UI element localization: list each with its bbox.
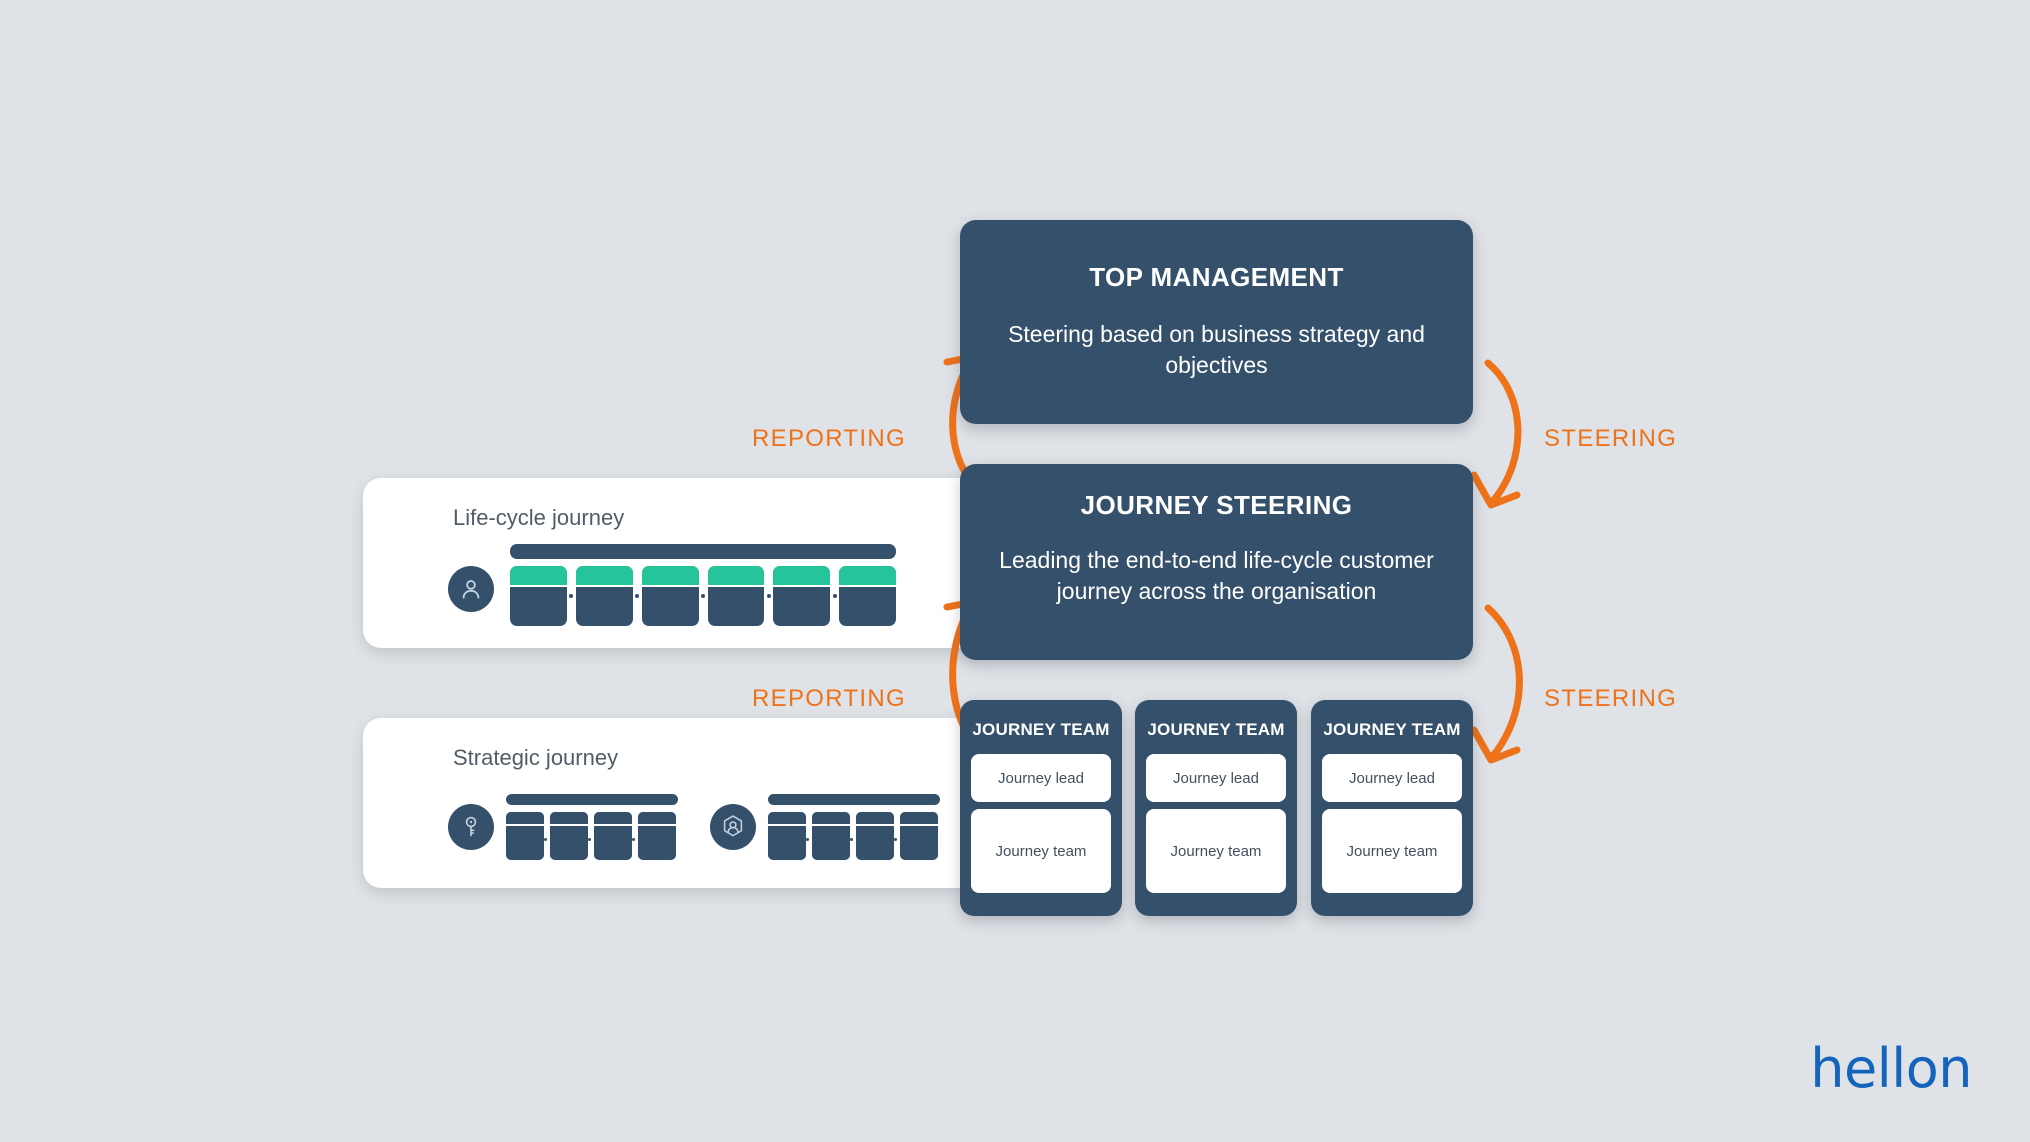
stage-accent	[576, 566, 633, 587]
diagram-canvas: Life-cycle journey	[0, 0, 2030, 1142]
lifecycle-stage	[773, 566, 830, 626]
hellon-logo: hellon	[1810, 1037, 1972, 1100]
stage-separator-dot	[699, 566, 708, 626]
strategic-journey-graphic	[448, 784, 978, 866]
journey-steering-box: JOURNEY STEERING Leading the end-to-end …	[960, 464, 1473, 660]
journey-team-title: JOURNEY TEAM	[1146, 700, 1286, 754]
journey-team-title: JOURNEY TEAM	[1322, 700, 1462, 754]
journey-team-slot: Journey team	[1146, 809, 1286, 893]
stage-accent	[642, 566, 699, 587]
journey-lead-slot: Journey lead	[971, 754, 1111, 802]
strategic-track-bar	[506, 794, 678, 805]
lifecycle-stage-list	[510, 566, 896, 626]
stage-accent	[550, 812, 588, 826]
journey-lead-slot: Journey lead	[1146, 754, 1286, 802]
strategic-panel-title: Strategic journey	[453, 745, 618, 771]
strategic-stage	[550, 812, 588, 860]
journey-team-slot: Journey team	[1322, 809, 1462, 893]
journey-steering-description: Leading the end-to-end life-cycle custom…	[960, 545, 1473, 606]
strategic-stage	[768, 812, 806, 860]
stage-accent	[594, 812, 632, 826]
stage-separator-dot	[764, 566, 773, 626]
flow-label-reporting-bottom: REPORTING	[752, 685, 906, 713]
stage-separator-dot	[830, 566, 839, 626]
top-management-box: TOP MANAGEMENT Steering based on busines…	[960, 220, 1473, 424]
stage-accent	[773, 566, 830, 587]
strategic-stage	[638, 812, 676, 860]
lifecycle-track-bar	[510, 544, 896, 559]
person-icon	[448, 566, 494, 612]
strategic-stage	[812, 812, 850, 860]
lifecycle-stage	[510, 566, 567, 626]
strategic-stage	[506, 812, 544, 860]
lifecycle-stage	[642, 566, 699, 626]
strategic-track-bar	[768, 794, 940, 805]
flow-label-reporting-top: REPORTING	[752, 425, 906, 453]
stage-accent	[708, 566, 765, 587]
stage-accent	[839, 566, 896, 587]
stage-separator-dot	[567, 566, 576, 626]
journey-team-card: JOURNEY TEAM Journey lead Journey team	[960, 700, 1122, 916]
key-icon	[448, 804, 494, 850]
lifecycle-stage	[708, 566, 765, 626]
journey-lead-slot: Journey lead	[1322, 754, 1462, 802]
strategic-stage-list	[506, 812, 678, 860]
stage-accent	[510, 566, 567, 587]
journey-team-card: JOURNEY TEAM Journey lead Journey team	[1311, 700, 1473, 916]
strategic-stage	[594, 812, 632, 860]
strategic-journey-group	[448, 784, 683, 866]
journey-team-card: JOURNEY TEAM Journey lead Journey team	[1135, 700, 1297, 916]
strategic-journey-group	[710, 784, 945, 866]
stage-accent	[506, 812, 544, 826]
person-hexagon-icon	[710, 804, 756, 850]
top-management-title: TOP MANAGEMENT	[960, 262, 1473, 293]
stage-accent	[812, 812, 850, 826]
journey-team-slot: Journey team	[971, 809, 1111, 893]
lifecycle-stage	[839, 566, 896, 626]
flow-label-steering-bottom: STEERING	[1544, 685, 1677, 713]
stage-accent	[638, 812, 676, 826]
lifecycle-stage	[576, 566, 633, 626]
strategic-stage	[856, 812, 894, 860]
stage-accent	[856, 812, 894, 826]
top-management-description: Steering based on business strategy and …	[960, 319, 1473, 380]
strategic-stage	[900, 812, 938, 860]
stage-accent	[768, 812, 806, 826]
strategic-stage-list	[768, 812, 940, 860]
stage-accent	[900, 812, 938, 826]
journey-steering-title: JOURNEY STEERING	[960, 490, 1473, 521]
lifecycle-panel-title: Life-cycle journey	[453, 505, 624, 531]
stage-separator-dot	[633, 566, 642, 626]
journey-team-title: JOURNEY TEAM	[971, 700, 1111, 754]
flow-label-steering-top: STEERING	[1544, 425, 1677, 453]
